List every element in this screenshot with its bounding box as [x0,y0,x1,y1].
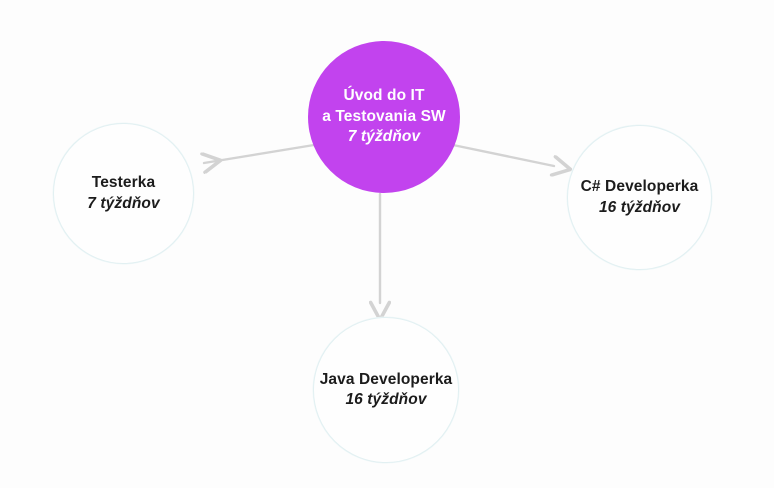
node-duration: 7 týždňov [348,127,420,147]
node-duration: 16 týždňov [345,390,426,410]
node-duration: 16 týždňov [599,198,680,218]
node-label-line2: a Testovania SW [322,107,446,127]
node-uvod-do-it[interactable]: Úvod do IT a Testovania SW 7 týždňov [308,41,460,193]
node-testerka[interactable]: Testerka 7 týždňov [53,123,194,264]
diagram-canvas: Úvod do IT a Testovania SW 7 týždňov Tes… [0,0,774,488]
node-duration: 7 týždňov [87,194,159,214]
edge-hub-to-csharp [453,145,554,166]
node-csharp-developerka[interactable]: C# Developerka 16 týždňov [567,125,712,270]
node-label: Java Developerka [320,370,453,390]
edge-hub-to-testerka [204,145,314,163]
node-label-line1: Úvod do IT [343,86,424,106]
node-label: Testerka [92,173,155,193]
node-java-developerka[interactable]: Java Developerka 16 týždňov [313,317,459,463]
node-label: C# Developerka [581,177,699,197]
